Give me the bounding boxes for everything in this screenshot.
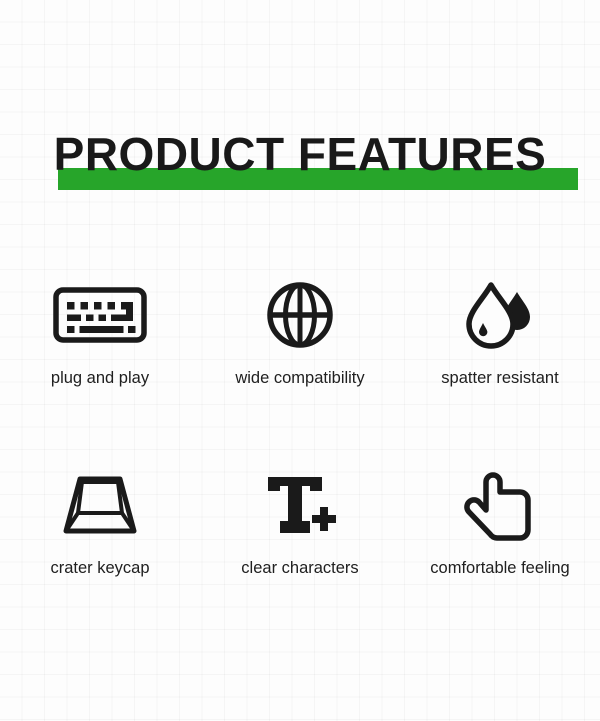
feature-item-spatter-resistant: spatter resistant (400, 276, 600, 466)
water-droplet-icon (461, 276, 539, 354)
feature-item-comfortable-feeling: comfortable feeling (400, 466, 600, 656)
feature-item-clear-characters: clear characters (200, 466, 400, 656)
page-title: PRODUCT FEATURES (0, 128, 600, 180)
features-grid: plug and play wide compatibility (0, 276, 600, 656)
feature-item-wide-compatibility: wide compatibility (200, 276, 400, 466)
feature-item-plug-and-play: plug and play (0, 276, 200, 466)
keycap-icon (60, 466, 140, 544)
pointing-hand-icon (464, 466, 536, 544)
text-plus-icon (260, 466, 340, 544)
product-features-infographic: PRODUCT FEATURES (0, 0, 600, 721)
keyboard-icon (52, 276, 148, 354)
feature-label: plug and play (51, 368, 149, 388)
feature-label: comfortable feeling (430, 558, 569, 578)
feature-item-crater-keycap: crater keycap (0, 466, 200, 656)
features-row: crater keycap clear characters (0, 466, 600, 656)
feature-label: crater keycap (50, 558, 149, 578)
feature-label: clear characters (241, 558, 358, 578)
page-title-block: PRODUCT FEATURES (0, 128, 600, 200)
feature-label: spatter resistant (441, 368, 558, 388)
globe-icon (265, 276, 335, 354)
feature-label: wide compatibility (235, 368, 364, 388)
features-row: plug and play wide compatibility (0, 276, 600, 466)
